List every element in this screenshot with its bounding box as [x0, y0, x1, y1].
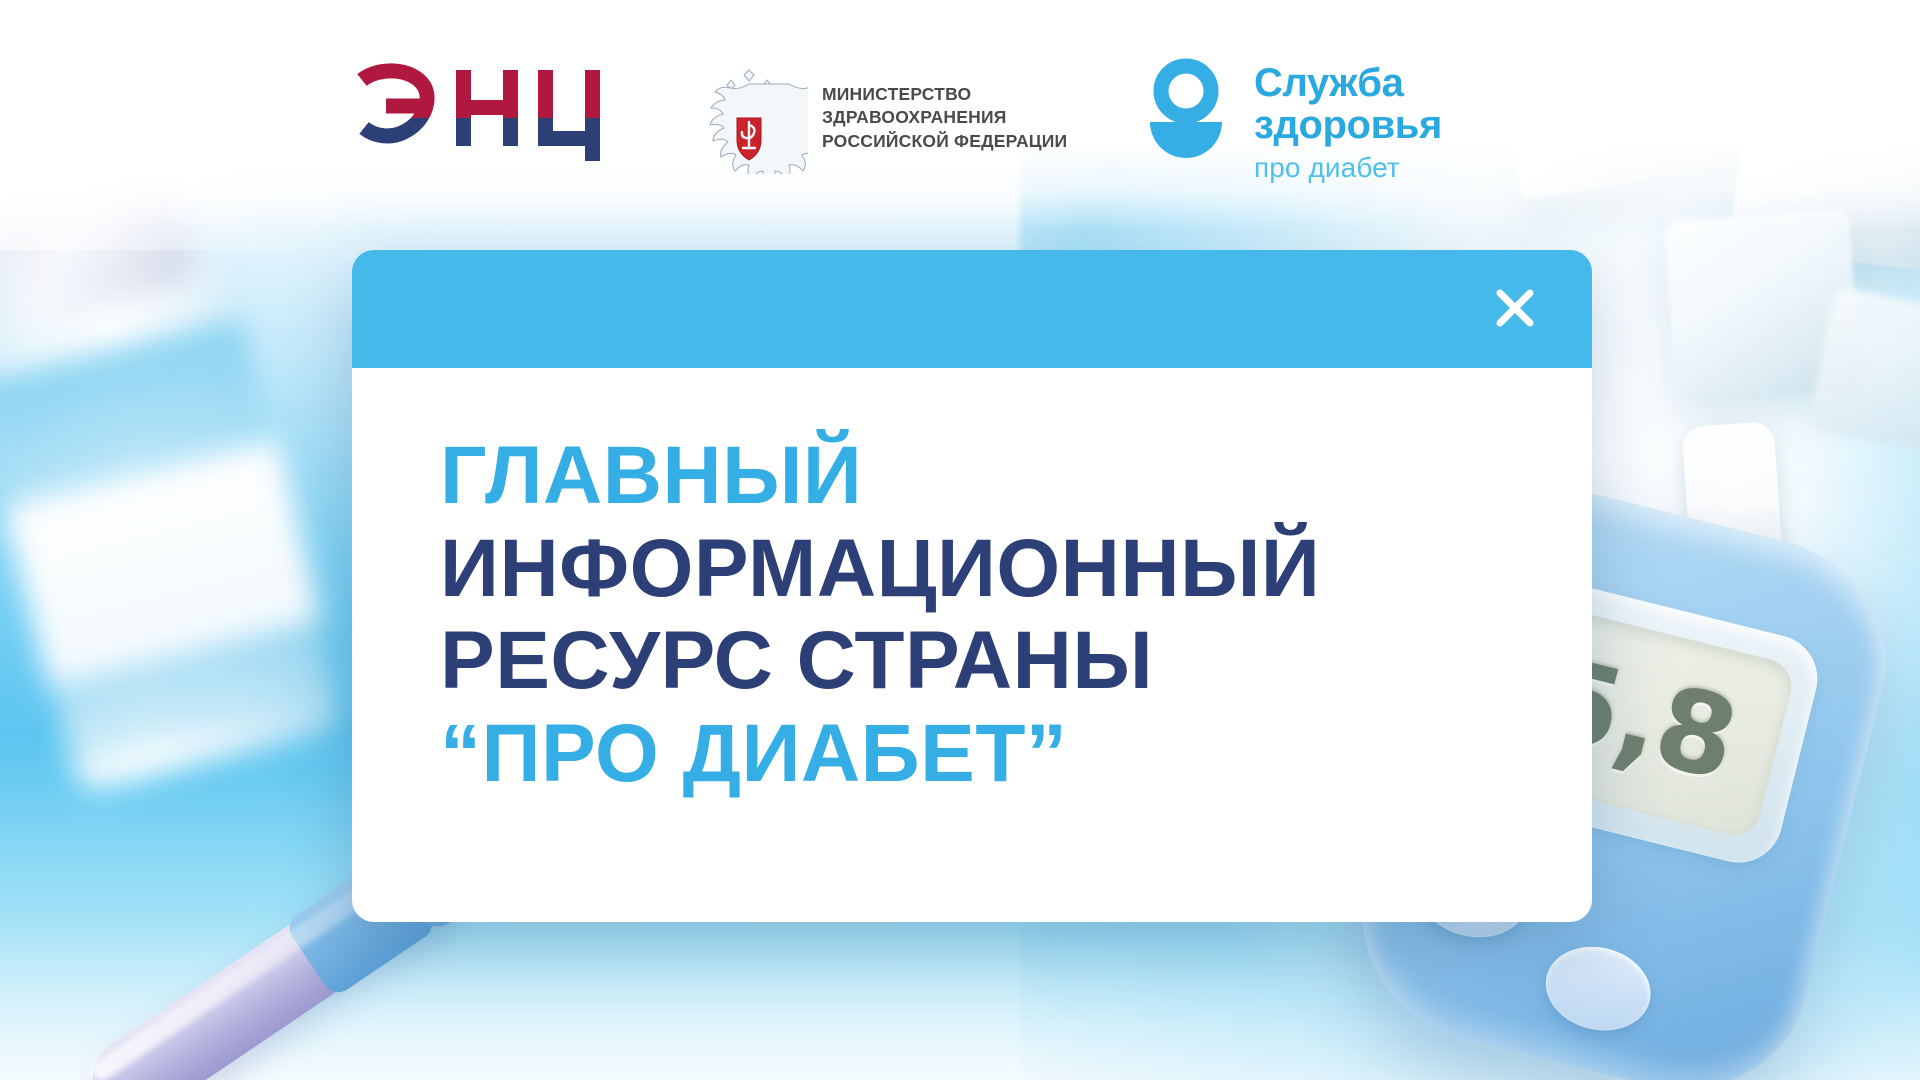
- info-modal: ГЛАВНЫЙ ИНФОРМАЦИОННЫЙ РЕСУРС СТРАНЫ “ПР…: [352, 250, 1592, 922]
- headline-line-1: ГЛАВНЫЙ: [440, 430, 1592, 523]
- sluzhba-tagline: про диабет: [1254, 153, 1442, 184]
- modal-header: [352, 250, 1592, 368]
- sluzhba-text: Служба здоровья про диабет: [1254, 58, 1442, 184]
- sluzhba-zdorovya-logo[interactable]: Служба здоровья про диабет: [1140, 58, 1442, 184]
- sluzhba-line-1: Служба: [1254, 61, 1403, 105]
- sluzhba-line-2: здоровья: [1254, 103, 1442, 147]
- minzdrav-line-2: ЗДРАВООХРАНЕНИЯ: [822, 107, 1007, 127]
- headline-line-2: ИНФОРМАЦИОННЫЙ: [440, 523, 1592, 616]
- headline-line-4: “ПРО ДИАБЕТ”: [440, 708, 1592, 801]
- headline-line-3: РЕСУРС СТРАНЫ: [440, 615, 1592, 708]
- minzdrav-line-1: МИНИСТЕРСТВО: [822, 84, 971, 104]
- modal-body: ГЛАВНЫЙ ИНФОРМАЦИОННЫЙ РЕСУРС СТРАНЫ “ПР…: [352, 368, 1592, 801]
- enc-logo[interactable]: [352, 62, 602, 174]
- page-title: ГЛАВНЫЙ ИНФОРМАЦИОННЫЙ РЕСУРС СТРАНЫ “ПР…: [440, 430, 1592, 801]
- background-left-fade: [0, 0, 340, 250]
- close-button[interactable]: [1484, 278, 1546, 340]
- minzdrav-text: МИНИСТЕРСТВО ЗДРАВООХРАНЕНИЯ РОССИЙСКОЙ …: [822, 83, 1067, 152]
- minzdrav-line-3: РОССИЙСКОЙ ФЕДЕРАЦИИ: [822, 131, 1067, 151]
- close-icon: [1489, 282, 1541, 337]
- smiling-face-ring-icon: [1140, 58, 1232, 158]
- minzdrav-logo[interactable]: МИНИСТЕРСТВО ЗДРАВООХРАНЕНИЯ РОССИЙСКОЙ …: [690, 62, 1067, 174]
- russian-coat-of-arms-icon: [690, 62, 808, 174]
- poster-stage: 5,8: [0, 0, 1920, 1080]
